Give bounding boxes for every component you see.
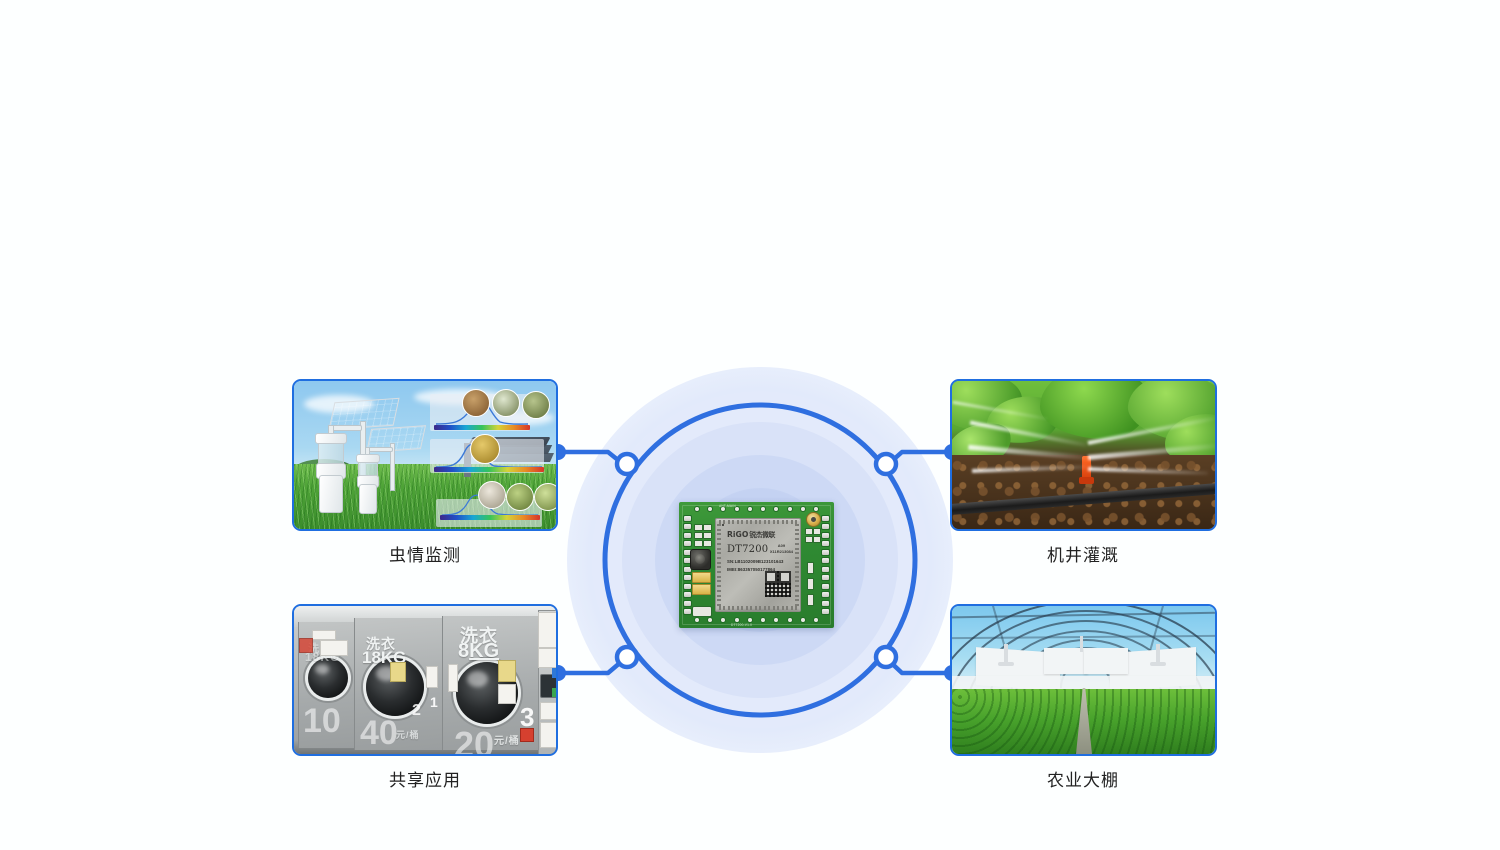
- pcb-ipex-antenna-connector: [806, 512, 821, 527]
- qr-code-icon: [765, 571, 791, 597]
- card-well-irrigation[interactable]: [950, 379, 1217, 531]
- module-model: DT7200: [727, 544, 768, 555]
- module-brand: RiGO锐杰微联: [727, 530, 775, 540]
- card-pest-monitoring[interactable]: [292, 379, 558, 531]
- pcb-right-pads: [821, 515, 830, 615]
- node-bottom-right: [876, 647, 896, 667]
- diagram-stage: RiGO锐杰微联 DT7200 A09 X11R213084 SN:LB1102…: [0, 0, 1500, 850]
- image-shared-application: 洗衣 18KG 10 洗衣 18KG 1 40 元/桶 洗衣 8KG 3 20 …: [294, 606, 556, 754]
- image-pest-monitoring: [294, 381, 556, 529]
- node-top-left: [617, 454, 637, 474]
- pcb-smd-5: [694, 540, 703, 547]
- pcb-inductor: [690, 549, 711, 570]
- pcb-smd-4: [703, 532, 712, 539]
- pcb-smd-1: [694, 524, 703, 531]
- pcb-top-castellations: [695, 507, 818, 512]
- module-revision: A09 X11R213084: [770, 543, 793, 555]
- pcb-capacitor-2: [692, 584, 711, 595]
- card-shared-application[interactable]: 洗衣 18KG 10 洗衣 18KG 1 40 元/桶 洗衣 8KG 3 20 …: [292, 604, 558, 756]
- pcb-smd-11: [807, 562, 814, 574]
- sn-label: SN: [727, 559, 733, 564]
- sn-value: LB1102009B123101643: [735, 559, 784, 564]
- node-top-right: [876, 454, 896, 474]
- pcb-smd-6: [703, 540, 712, 547]
- pcb-smd-3: [694, 532, 703, 539]
- connector-top-left: [550, 444, 637, 474]
- pcb-smd-8: [813, 528, 821, 535]
- connector-bottom-right: [876, 647, 960, 681]
- brand-mark: RiGO: [727, 530, 748, 539]
- connection-network: [0, 0, 1500, 850]
- brand-cn: 锐杰微联: [749, 532, 775, 539]
- revision-code: X11R213084: [770, 549, 793, 555]
- pcb-test-points: [692, 606, 712, 617]
- connector-bottom-left: [550, 647, 637, 681]
- pin1-dot-marker: [722, 524, 724, 526]
- rf-shield-can: RiGO锐杰微联 DT7200 A09 X11R213084 SN:LB1102…: [715, 518, 801, 612]
- center-module-image: RiGO锐杰微联 DT7200 A09 X11R213084 SN:LB1102…: [679, 502, 834, 628]
- connector-top-right: [876, 444, 960, 474]
- caption-shared-application: 共享应用: [292, 766, 558, 791]
- image-agricultural-greenhouse: [952, 606, 1215, 754]
- pcb-silk-bottom: DT7200-V1.0: [731, 623, 752, 627]
- module-sn: SN:LB1102009B123101643: [727, 559, 783, 564]
- pcb-capacitor-1: [692, 572, 711, 583]
- caption-pest-monitoring: 虫情监测: [292, 541, 558, 566]
- pcb-smd-13: [807, 594, 814, 606]
- pcb-smd-12: [807, 578, 814, 590]
- pcb-smd-2: [703, 524, 712, 531]
- pcb-smd-10: [813, 536, 821, 543]
- pcb-smd-7: [805, 528, 813, 535]
- imei-label: IMEI: [727, 567, 736, 572]
- image-well-irrigation: [952, 381, 1215, 529]
- node-bottom-left: [617, 647, 637, 667]
- caption-well-irrigation: 机井灌溉: [950, 541, 1216, 566]
- caption-agricultural-greenhouse: 农业大棚: [950, 766, 1216, 791]
- card-agricultural-greenhouse[interactable]: [950, 604, 1217, 756]
- pcb-bottom-castellations: [695, 618, 818, 623]
- pcb-smd-9: [805, 536, 813, 543]
- pcb-silk-top: ANT-MAIN: [719, 504, 736, 508]
